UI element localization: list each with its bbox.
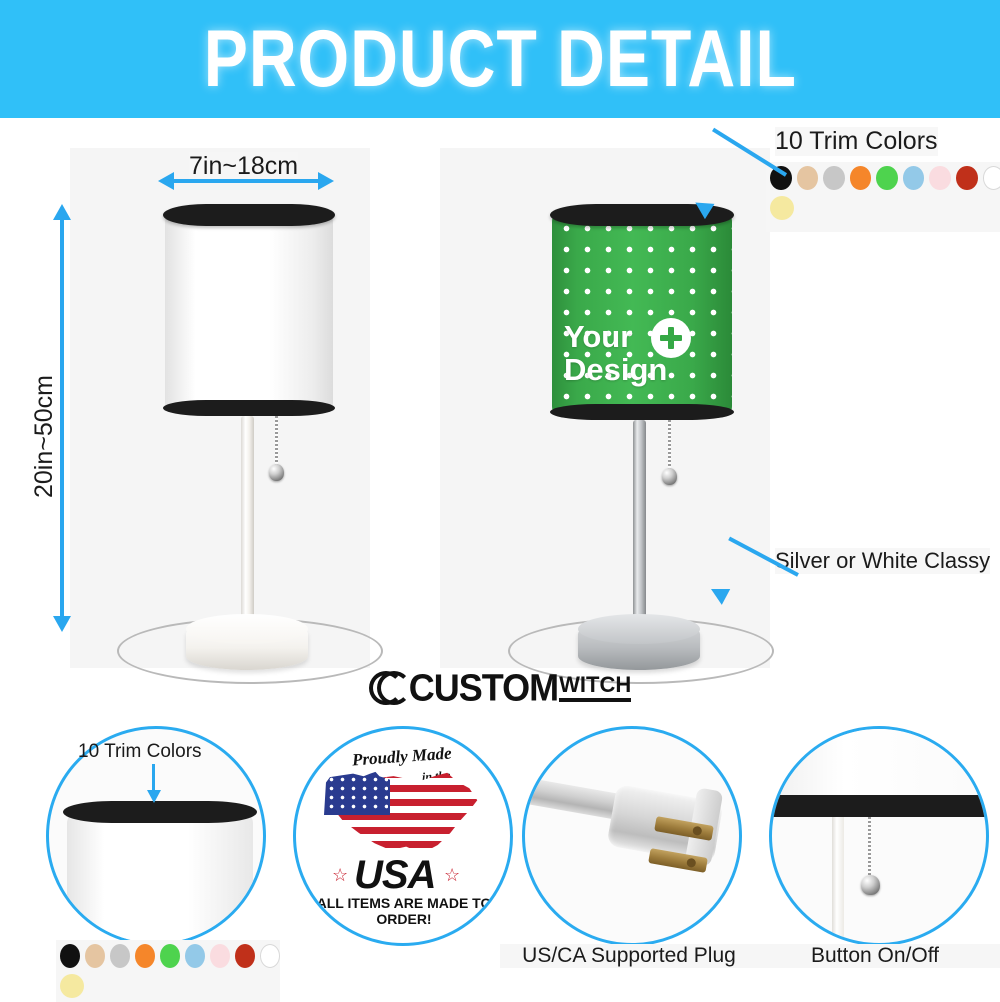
trim-swatch-pink[interactable] bbox=[210, 944, 230, 968]
width-dimension-line bbox=[170, 179, 320, 183]
design-line-2: Design bbox=[564, 353, 667, 386]
trim-color-swatches-bottom bbox=[56, 940, 280, 1002]
switch-pole bbox=[832, 817, 844, 946]
switch-caption: Button On/Off bbox=[750, 944, 1000, 968]
switch-trim bbox=[769, 795, 989, 817]
trim-color-swatches bbox=[766, 162, 1000, 232]
feature-circle-switch bbox=[769, 726, 989, 946]
trim-swatch-brick-red[interactable] bbox=[956, 166, 978, 190]
usa-flag-stars bbox=[326, 775, 388, 813]
trim-swatch-pink[interactable] bbox=[929, 166, 951, 190]
lamp-green-pole bbox=[633, 420, 646, 646]
brand-logo: CUSTOM WITCH bbox=[0, 664, 1000, 712]
trim-swatch-light-blue[interactable] bbox=[185, 944, 205, 968]
trim-swatch-row-2 bbox=[770, 196, 1000, 220]
trim-colors-heading: 10 Trim Colors bbox=[775, 127, 938, 156]
usa-star-right-icon: ☆ bbox=[444, 865, 460, 886]
feature-circle-made-in-usa: Proudly Made in the ☆ USA ☆ ALL ITEMS AR… bbox=[293, 726, 513, 946]
trim-swatch-yellow[interactable] bbox=[770, 196, 794, 220]
lamp-white-chain-ball[interactable] bbox=[269, 464, 284, 481]
plus-icon bbox=[651, 318, 691, 358]
lamp-green-base-top bbox=[578, 614, 700, 644]
width-dimension-label: 7in~18cm bbox=[189, 152, 298, 181]
lamp-white-pole bbox=[241, 416, 254, 646]
lamp-white-shade-surface bbox=[165, 212, 333, 412]
trim-swatch-orange[interactable] bbox=[135, 944, 155, 968]
double-c-monogram-icon bbox=[369, 669, 407, 707]
feature-circle-plug bbox=[522, 726, 742, 946]
header-banner: PRODUCT DETAIL bbox=[0, 0, 1000, 118]
height-dimension-label: 20in~50cm bbox=[30, 375, 59, 498]
trim-swatch-row-b2 bbox=[60, 974, 280, 998]
trim-closeup-arrow-head bbox=[147, 790, 161, 803]
usa-proudly-made-text: Proudly Made bbox=[351, 744, 452, 771]
lamp-white-trim-bottom bbox=[163, 400, 335, 416]
lamp-white-shade bbox=[165, 212, 333, 412]
height-arrow-bottom bbox=[53, 616, 71, 632]
plug-caption: US/CA Supported Plug bbox=[500, 944, 758, 968]
usa-subtitle: ALL ITEMS ARE MADE TO ORDER! bbox=[302, 895, 506, 927]
lamp-white bbox=[120, 188, 380, 668]
page-title: PRODUCT DETAIL bbox=[203, 13, 796, 105]
lamp-green-pull-chain[interactable] bbox=[668, 420, 671, 472]
lamp-white-trim-top bbox=[163, 204, 335, 226]
trim-closeup-shade bbox=[67, 813, 253, 946]
logo-word-witch-group: WITCH bbox=[559, 674, 631, 702]
trim-closeup-trim bbox=[63, 801, 257, 823]
trim-swatch-orange[interactable] bbox=[850, 166, 872, 190]
trim-swatch-gray[interactable] bbox=[110, 944, 130, 968]
lamp-white-base-top bbox=[186, 614, 308, 644]
usa-star-left-icon: ☆ bbox=[332, 865, 348, 886]
logo-word-custom: CUSTOM bbox=[409, 666, 558, 710]
trim-swatch-yellow[interactable] bbox=[60, 974, 84, 998]
lamp-green-shade: Your Design bbox=[552, 212, 732, 416]
lamp-green-chain-ball[interactable] bbox=[662, 468, 677, 485]
height-arrow-top bbox=[53, 204, 71, 220]
main-product-area: 7in~18cm 20in~50cm bbox=[0, 118, 1000, 658]
trim-closeup-caption: 10 Trim Colors bbox=[78, 741, 202, 763]
switch-pull-chain[interactable] bbox=[868, 817, 871, 879]
trim-swatch-row-b1 bbox=[60, 944, 280, 968]
trim-swatch-brick-red[interactable] bbox=[235, 944, 255, 968]
logo-word-witch: WITCH bbox=[559, 674, 631, 696]
usa-word: USA bbox=[354, 853, 435, 898]
height-dimension-line bbox=[60, 218, 64, 618]
logo-underline bbox=[559, 698, 631, 702]
lamp-white-pull-chain[interactable] bbox=[275, 416, 278, 468]
trim-swatch-green[interactable] bbox=[876, 166, 898, 190]
trim-swatch-tan[interactable] bbox=[85, 944, 105, 968]
trim-swatch-gray[interactable] bbox=[823, 166, 845, 190]
switch-chain-ball[interactable] bbox=[861, 875, 880, 895]
trim-swatch-green[interactable] bbox=[160, 944, 180, 968]
lamp-green-trim-bottom bbox=[550, 404, 734, 420]
base-finish-label: Silver or White Classy bbox=[775, 548, 990, 574]
product-detail-infographic: PRODUCT DETAIL 7in~18cm 20in~50cm bbox=[0, 0, 1000, 1000]
trim-closeup-arrow bbox=[152, 764, 155, 792]
switch-shade bbox=[769, 726, 989, 799]
trim-swatch-light-blue[interactable] bbox=[903, 166, 925, 190]
lamp-green: Your Design bbox=[500, 188, 780, 668]
trim-swatch-row-1 bbox=[770, 166, 1000, 190]
trim-swatch-white[interactable] bbox=[983, 166, 1000, 190]
trim-swatch-white[interactable] bbox=[260, 944, 280, 968]
trim-swatch-black[interactable] bbox=[60, 944, 80, 968]
trim-swatch-tan[interactable] bbox=[797, 166, 819, 190]
